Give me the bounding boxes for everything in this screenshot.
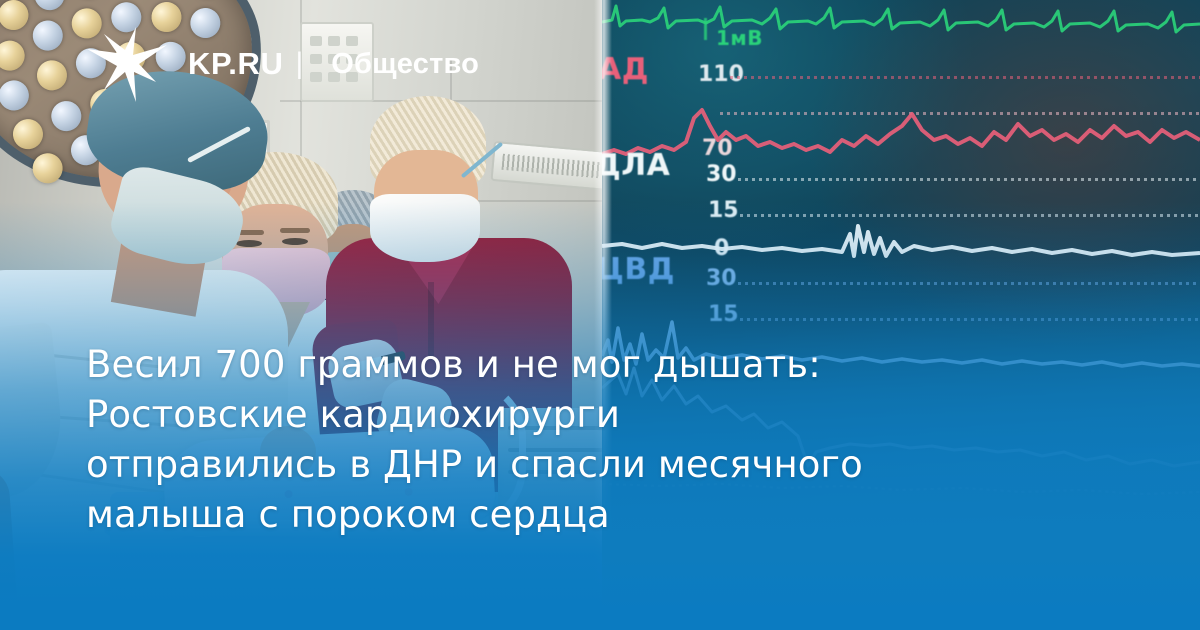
- headline-line-1: Весил 700 граммов и не мог дышать:: [86, 343, 821, 386]
- article-share-card: 1мВ АД 110 70 ДЛА 30 15 0 ЦВД 30 15: [0, 0, 1200, 630]
- headline-line-3: отправились в ДНР и спасли месячного: [86, 443, 863, 486]
- monitor-scale-30: 30: [706, 162, 737, 187]
- rubric-label[interactable]: Общество: [331, 48, 479, 81]
- brand-name[interactable]: KP.RU: [188, 46, 283, 82]
- calibration-tick: [704, 18, 707, 40]
- waveform-pap: [602, 212, 1200, 280]
- monitor-label-abp: АД: [602, 52, 649, 87]
- headline-line-4: малыша с пороком сердца: [86, 493, 610, 536]
- monitor-scale-1mv: 1мВ: [716, 26, 763, 50]
- waveform-ecg: [602, 0, 1200, 42]
- headline-line-2: Ростовские кардиохирурги: [86, 393, 620, 436]
- monitor-label-pap: ДЛА: [602, 148, 670, 183]
- monitor-scale-110: 110: [698, 62, 744, 87]
- swallow-bird-icon[interactable]: [84, 24, 170, 104]
- brand-bar: KP.RU | Общество: [84, 28, 479, 100]
- page-title: Весил 700 граммов и не мог дышать: Росто…: [86, 340, 1106, 540]
- brand-separator: |: [295, 47, 303, 81]
- monitor-scale-30-cvp: 30: [706, 266, 737, 291]
- monitor-label-cvp: ЦВД: [602, 252, 675, 287]
- waveform-abp: [602, 96, 1200, 176]
